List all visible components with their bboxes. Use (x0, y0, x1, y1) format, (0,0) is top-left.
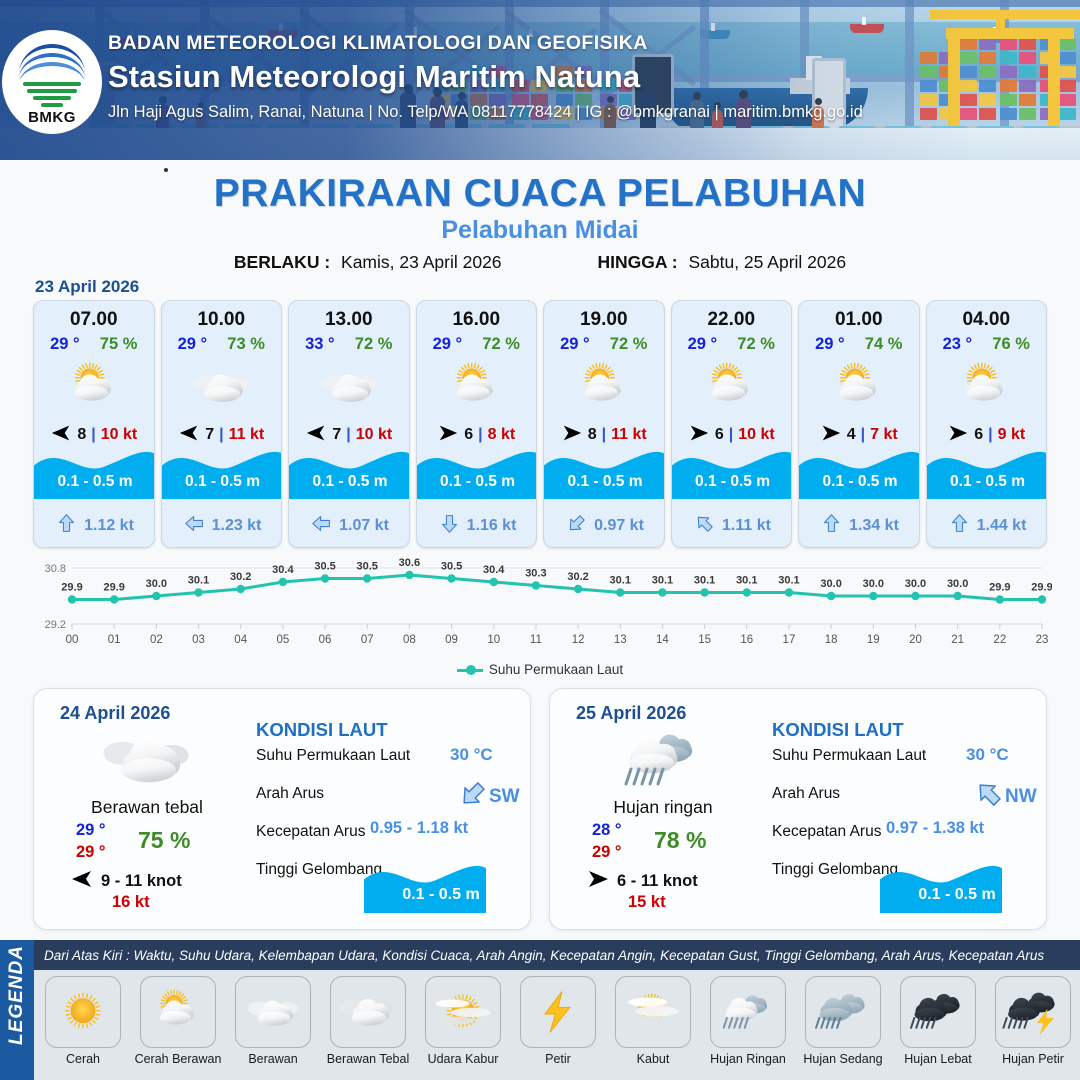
wind-separator: | (219, 426, 223, 444)
panel-sea-title: KONDISI LAUT (256, 719, 388, 741)
legend-icon-berawan-tebal-icon (330, 976, 406, 1048)
svg-text:03: 03 (192, 634, 205, 646)
svg-text:30.0: 30.0 (146, 578, 167, 590)
current-speed: 1.44 kt (977, 517, 1027, 535)
panel-date: 24 April 2026 (60, 703, 170, 724)
svg-text:09: 09 (445, 634, 458, 646)
panel-current-speed-value: 0.97 - 1.38 kt (886, 819, 984, 838)
card-weather-icon (289, 356, 409, 418)
legend-item-label: Kabut (608, 1052, 698, 1066)
wave-height: 0.1 - 0.5 m (927, 473, 1048, 491)
svg-text:29.9: 29.9 (61, 582, 82, 594)
svg-text:22: 22 (993, 634, 1006, 646)
svg-text:00: 00 (66, 634, 79, 646)
card-time: 01.00 (799, 309, 919, 331)
svg-text:12: 12 (572, 634, 585, 646)
card-humidity: 75 % (100, 335, 138, 354)
panel-date: 25 April 2026 (576, 703, 686, 724)
svg-text:17: 17 (783, 634, 796, 646)
current-speed: 1.16 kt (467, 517, 517, 535)
hingga-value: Sabtu, 25 April 2026 (688, 252, 846, 272)
legend-item-label: Hujan Sedang (798, 1052, 888, 1066)
panel-gust: 16 kt (112, 893, 150, 912)
current-direction-icon (184, 513, 205, 539)
card-temperature: 23 ° (943, 335, 973, 354)
card-humidity: 74 % (865, 335, 903, 354)
berlaku-value: Kamis, 23 April 2026 (341, 252, 502, 272)
daily-summary-panel[interactable]: 25 April 2026 Hujan ringan 28 ° 29 ° 78 … (549, 688, 1047, 930)
hingga-label: HINGGA : (598, 252, 678, 272)
card-time: 04.00 (927, 309, 1047, 331)
legend-icon-petir-icon (520, 976, 596, 1048)
card-humidity: 72 % (737, 335, 775, 354)
panel-temp-max: 29 ° (592, 843, 622, 862)
card-weather-icon (544, 356, 664, 418)
card-temperature: 33 ° (305, 335, 335, 354)
current-speed: 0.97 kt (594, 517, 644, 535)
svg-text:16: 16 (740, 634, 753, 646)
panel-current-direction-icon (974, 779, 1004, 814)
svg-text:30.5: 30.5 (441, 561, 462, 573)
chart-legend: Suhu Permukaan Laut (0, 662, 1080, 677)
svg-text:13: 13 (614, 634, 627, 646)
panel-condition: Berawan tebal (34, 797, 260, 818)
wind-direction-value: 6 (464, 426, 473, 444)
legend-item-label: Cerah (38, 1052, 128, 1066)
svg-text:07: 07 (361, 634, 374, 646)
card-humidity: 72 % (610, 335, 648, 354)
svg-text:30.1: 30.1 (188, 575, 209, 587)
svg-text:14: 14 (656, 634, 669, 646)
panel-current-speed-value: 0.95 - 1.18 kt (370, 819, 468, 838)
current-direction-icon (56, 513, 77, 539)
forecast-card[interactable]: 04.00 23 ° 76 % 6 | 9 kt 0.1 - 0.5 m (926, 300, 1048, 548)
legend-icon-list: Cerah Cerah Berawan Berawan (38, 976, 1078, 1066)
card-time: 16.00 (417, 309, 537, 331)
legend-icon-hujan-ringan-icon (710, 976, 786, 1048)
legend-icon-udara-kabur-icon (425, 976, 501, 1048)
current-direction-icon (821, 513, 842, 539)
wave-band: 0.1 - 0.5 m (162, 443, 283, 499)
svg-text:05: 05 (276, 634, 289, 646)
svg-text:30.4: 30.4 (272, 564, 294, 576)
wind-direction-value: 7 (332, 426, 341, 444)
legend-item: Hujan Lebat (893, 976, 983, 1066)
wind-direction-value: 7 (205, 426, 214, 444)
panel-wave-graphic: 0.1 - 0.5 m (880, 851, 1034, 913)
daily-summary-panels: 24 April 2026 Berawan tebal 29 ° 29 ° 75… (33, 688, 1047, 930)
forecast-card[interactable]: 01.00 29 ° 74 % 4 | 7 kt 0.1 - 0.5 m (798, 300, 920, 548)
wave-band: 0.1 - 0.5 m (799, 443, 920, 499)
legend-item-label: Berawan (228, 1052, 318, 1066)
wind-direction-value: 8 (77, 426, 86, 444)
current-speed: 1.07 kt (339, 517, 389, 535)
panel-current-direction-icon (458, 779, 488, 814)
bmkg-logo: BMKG (2, 30, 102, 134)
wave-band: 0.1 - 0.5 m (672, 443, 793, 499)
svg-text:06: 06 (319, 634, 332, 646)
forecast-card[interactable]: 10.00 29 ° 73 % 7 | 11 kt 0.1 - 0.5 m (161, 300, 283, 548)
card-time: 19.00 (544, 309, 664, 331)
legend-item-label: Hujan Petir (988, 1052, 1078, 1066)
wind-separator: | (91, 426, 95, 444)
svg-text:11: 11 (530, 634, 542, 646)
legend-item: Cerah (38, 976, 128, 1066)
svg-text:30.2: 30.2 (567, 571, 588, 583)
current-direction-icon (694, 513, 715, 539)
panel-condition: Hujan ringan (550, 797, 776, 818)
chart-legend-label: Suhu Permukaan Laut (489, 662, 623, 677)
port-name: Pelabuhan Midai (0, 216, 1080, 245)
legend-item-label: Petir (513, 1052, 603, 1066)
svg-text:30.0: 30.0 (905, 578, 926, 590)
sst-chart: 30.829.229.90029.90130.00230.10330.20430… (28, 558, 1052, 654)
svg-text:30.5: 30.5 (314, 561, 335, 573)
panel-wind-range: 9 - 11 knot (101, 872, 182, 891)
current-speed: 1.23 kt (212, 517, 262, 535)
wave-band: 0.1 - 0.5 m (417, 443, 538, 499)
card-time: 10.00 (162, 309, 282, 331)
chart-legend-marker-icon (457, 669, 483, 672)
svg-text:02: 02 (150, 634, 163, 646)
logo-text: BMKG (13, 109, 91, 126)
panel-weather-icon (608, 729, 718, 791)
legend-icon-hujan-lebat-icon (900, 976, 976, 1048)
legend-item-label: Udara Kabur (418, 1052, 508, 1066)
legend-item: Petir (513, 976, 603, 1066)
wave-height: 0.1 - 0.5 m (544, 473, 665, 491)
forecast-card[interactable]: 13.00 33 ° 72 % 7 | 10 kt 0.1 - 0.5 m (288, 300, 410, 548)
svg-text:01: 01 (108, 634, 121, 646)
current-direction-icon (949, 513, 970, 539)
wind-speed: 7 kt (870, 426, 898, 444)
svg-text:15: 15 (698, 634, 711, 646)
panel-current-direction: SW (489, 786, 520, 808)
wave-height: 0.1 - 0.5 m (417, 473, 538, 491)
panel-weather-icon (92, 729, 202, 791)
panel-temp-max: 29 ° (76, 843, 106, 862)
berlaku-group: BERLAKU : Kamis, 23 April 2026 (234, 252, 502, 273)
legend-side-label: LEGENDA (0, 940, 34, 1080)
wind-separator: | (478, 426, 482, 444)
svg-text:23: 23 (1036, 634, 1049, 646)
svg-text:30.1: 30.1 (610, 575, 631, 587)
wind-speed: 10 kt (738, 426, 774, 444)
svg-text:29.2: 29.2 (45, 619, 66, 631)
card-weather-icon (927, 356, 1047, 418)
panel-sea-title: KONDISI LAUT (772, 719, 904, 741)
wind-direction-value: 6 (715, 426, 724, 444)
svg-text:30.4: 30.4 (483, 564, 505, 576)
card-humidity: 72 % (355, 335, 393, 354)
card-humidity: 72 % (482, 335, 520, 354)
card-temperature: 29 ° (178, 335, 208, 354)
card-temperature: 29 ° (688, 335, 718, 354)
panel-sst-value: 30 °C (450, 745, 493, 765)
wind-separator: | (346, 426, 350, 444)
svg-text:30.6: 30.6 (399, 558, 420, 569)
svg-text:30.3: 30.3 (525, 568, 546, 580)
panel-sst-value: 30 °C (966, 745, 1009, 765)
panel-wave-graphic: 0.1 - 0.5 m (364, 851, 518, 913)
svg-text:29.9: 29.9 (1031, 582, 1052, 594)
agency-name: BADAN METEOROLOGI KLIMATOLOGI DAN GEOFIS… (108, 32, 863, 55)
wind-speed: 10 kt (101, 426, 137, 444)
sst-chart-svg: 30.829.229.90029.90130.00230.10330.20430… (28, 558, 1052, 654)
wind-separator: | (861, 426, 865, 444)
card-temperature: 29 ° (433, 335, 463, 354)
wind-speed: 9 kt (998, 426, 1026, 444)
wave-band: 0.1 - 0.5 m (289, 443, 410, 499)
legend-item: Hujan Petir (988, 976, 1078, 1066)
wave-band: 0.1 - 0.5 m (927, 443, 1048, 499)
wave-height: 0.1 - 0.5 m (672, 473, 793, 491)
panel-temp-min: 29 ° (76, 821, 106, 840)
legend-item: Kabut (608, 976, 698, 1066)
station-name: Stasiun Meteorologi Maritim Natuna (108, 59, 863, 95)
panel-wave-height: 0.1 - 0.5 m (880, 886, 1034, 904)
forecast-card[interactable]: 19.00 29 ° 72 % 8 | 11 kt 0.1 - 0.5 m (543, 300, 665, 548)
legend-item: Hujan Sedang (798, 976, 888, 1066)
legend-icon-cerah-icon (45, 976, 121, 1048)
current-direction-icon (566, 513, 587, 539)
legend-item: Berawan Tebal (323, 976, 413, 1066)
panel-gust: 15 kt (628, 893, 666, 912)
panel-wave-height: 0.1 - 0.5 m (364, 886, 518, 904)
legend-item-label: Hujan Lebat (893, 1052, 983, 1066)
wave-band: 0.1 - 0.5 m (544, 443, 665, 499)
svg-text:29.9: 29.9 (989, 582, 1010, 594)
forecast-card[interactable]: 07.00 29 ° 75 % 8 | 10 kt 0.1 - 0.5 m (33, 300, 155, 548)
card-humidity: 73 % (227, 335, 265, 354)
wind-speed: 11 kt (611, 426, 647, 444)
card-weather-icon (799, 356, 919, 418)
validity-row: BERLAKU : Kamis, 23 April 2026 HINGGA : … (0, 252, 1080, 273)
wind-speed: 11 kt (229, 426, 265, 444)
card-temperature: 29 ° (560, 335, 590, 354)
card-temperature: 29 ° (815, 335, 845, 354)
legend-item-label: Berawan Tebal (323, 1052, 413, 1066)
svg-text:30.0: 30.0 (820, 578, 841, 590)
legend-icon-hujan-petir-icon (995, 976, 1071, 1048)
page-title: PRAKIRAAN CUACA PELABUHAN (0, 172, 1080, 216)
card-temperature: 29 ° (50, 335, 80, 354)
daily-summary-panel[interactable]: 24 April 2026 Berawan tebal 29 ° 29 ° 75… (33, 688, 531, 930)
contact-line: Jln Haji Agus Salim, Ranai, Natuna | No.… (108, 103, 863, 122)
legend-icon-cerah-berawan-icon (140, 976, 216, 1048)
forecast-card[interactable]: 16.00 29 ° 72 % 6 | 8 kt 0.1 - 0.5 m (416, 300, 538, 548)
svg-text:30.8: 30.8 (45, 563, 66, 575)
current-speed: 1.12 kt (84, 517, 134, 535)
card-weather-icon (672, 356, 792, 418)
svg-text:30.1: 30.1 (694, 575, 715, 587)
svg-text:30.1: 30.1 (778, 575, 799, 587)
legend-icon-berawan-icon (235, 976, 311, 1048)
legend-item: Cerah Berawan (133, 976, 223, 1066)
legend-item-label: Hujan Ringan (703, 1052, 793, 1066)
current-speed: 1.34 kt (849, 517, 899, 535)
panel-humidity: 75 % (138, 827, 190, 854)
svg-text:30.2: 30.2 (230, 571, 251, 583)
svg-text:21: 21 (951, 634, 964, 646)
panel-wind-direction-icon (70, 867, 94, 896)
wave-height: 0.1 - 0.5 m (34, 473, 155, 491)
card-weather-icon (162, 356, 282, 418)
wind-separator: | (729, 426, 733, 444)
forecast-date: 23 April 2026 (35, 277, 139, 297)
page-header: BMKG BADAN METEOROLOGI KLIMATOLOGI DAN G… (0, 0, 1080, 160)
svg-text:04: 04 (234, 634, 247, 646)
panel-wind-direction-icon (586, 867, 610, 896)
logo-stripes-icon (19, 80, 85, 108)
panel-current-direction: NW (1005, 786, 1037, 808)
svg-text:30.5: 30.5 (357, 561, 378, 573)
current-direction-icon (311, 513, 332, 539)
card-humidity: 76 % (992, 335, 1030, 354)
card-time: 22.00 (672, 309, 792, 331)
svg-text:30.1: 30.1 (652, 575, 673, 587)
svg-text:08: 08 (403, 634, 416, 646)
wind-separator: | (602, 426, 606, 444)
legend-item-label: Cerah Berawan (133, 1052, 223, 1066)
wind-direction-value: 6 (974, 426, 983, 444)
svg-text:18: 18 (825, 634, 838, 646)
wind-direction-value: 4 (847, 426, 856, 444)
logo-arcs-icon (19, 44, 85, 80)
panel-wind-range: 6 - 11 knot (617, 872, 698, 891)
current-speed: 1.11 kt (722, 517, 771, 535)
card-weather-icon (34, 356, 154, 418)
wind-direction-value: 8 (588, 426, 597, 444)
forecast-card[interactable]: 22.00 29 ° 72 % 6 | 10 kt 0.1 - 0.5 m (671, 300, 793, 548)
legend-item: Udara Kabur (418, 976, 508, 1066)
card-weather-icon (417, 356, 537, 418)
legend-icon-hujan-sedang-icon (805, 976, 881, 1048)
current-direction-icon (439, 513, 460, 539)
svg-text:30.0: 30.0 (863, 578, 884, 590)
card-time: 13.00 (289, 309, 409, 331)
legend-icon-kabut-icon (615, 976, 691, 1048)
berlaku-label: BERLAKU : (234, 252, 330, 272)
wave-height: 0.1 - 0.5 m (799, 473, 920, 491)
panel-temp-min: 28 ° (592, 821, 622, 840)
wind-speed: 10 kt (356, 426, 392, 444)
legend-item: Hujan Ringan (703, 976, 793, 1066)
legend-side-text: LEGENDA (6, 925, 28, 1065)
wave-height: 0.1 - 0.5 m (162, 473, 283, 491)
forecast-card-list: 07.00 29 ° 75 % 8 | 10 kt 0.1 - 0.5 m (33, 300, 1047, 548)
svg-text:29.9: 29.9 (103, 582, 124, 594)
svg-text:19: 19 (867, 634, 880, 646)
wind-separator: | (988, 426, 992, 444)
panel-humidity: 78 % (654, 827, 706, 854)
legend-note: Dari Atas Kiri : Waktu, Suhu Udara, Kele… (34, 940, 1080, 970)
svg-text:30.0: 30.0 (947, 578, 968, 590)
svg-text:20: 20 (909, 634, 922, 646)
wave-band: 0.1 - 0.5 m (34, 443, 155, 499)
svg-text:10: 10 (487, 634, 500, 646)
hingga-group: HINGGA : Sabtu, 25 April 2026 (598, 252, 847, 273)
wave-height: 0.1 - 0.5 m (289, 473, 410, 491)
card-time: 07.00 (34, 309, 154, 331)
wind-speed: 8 kt (488, 426, 516, 444)
legend-item: Berawan (228, 976, 318, 1066)
svg-text:30.1: 30.1 (736, 575, 757, 587)
